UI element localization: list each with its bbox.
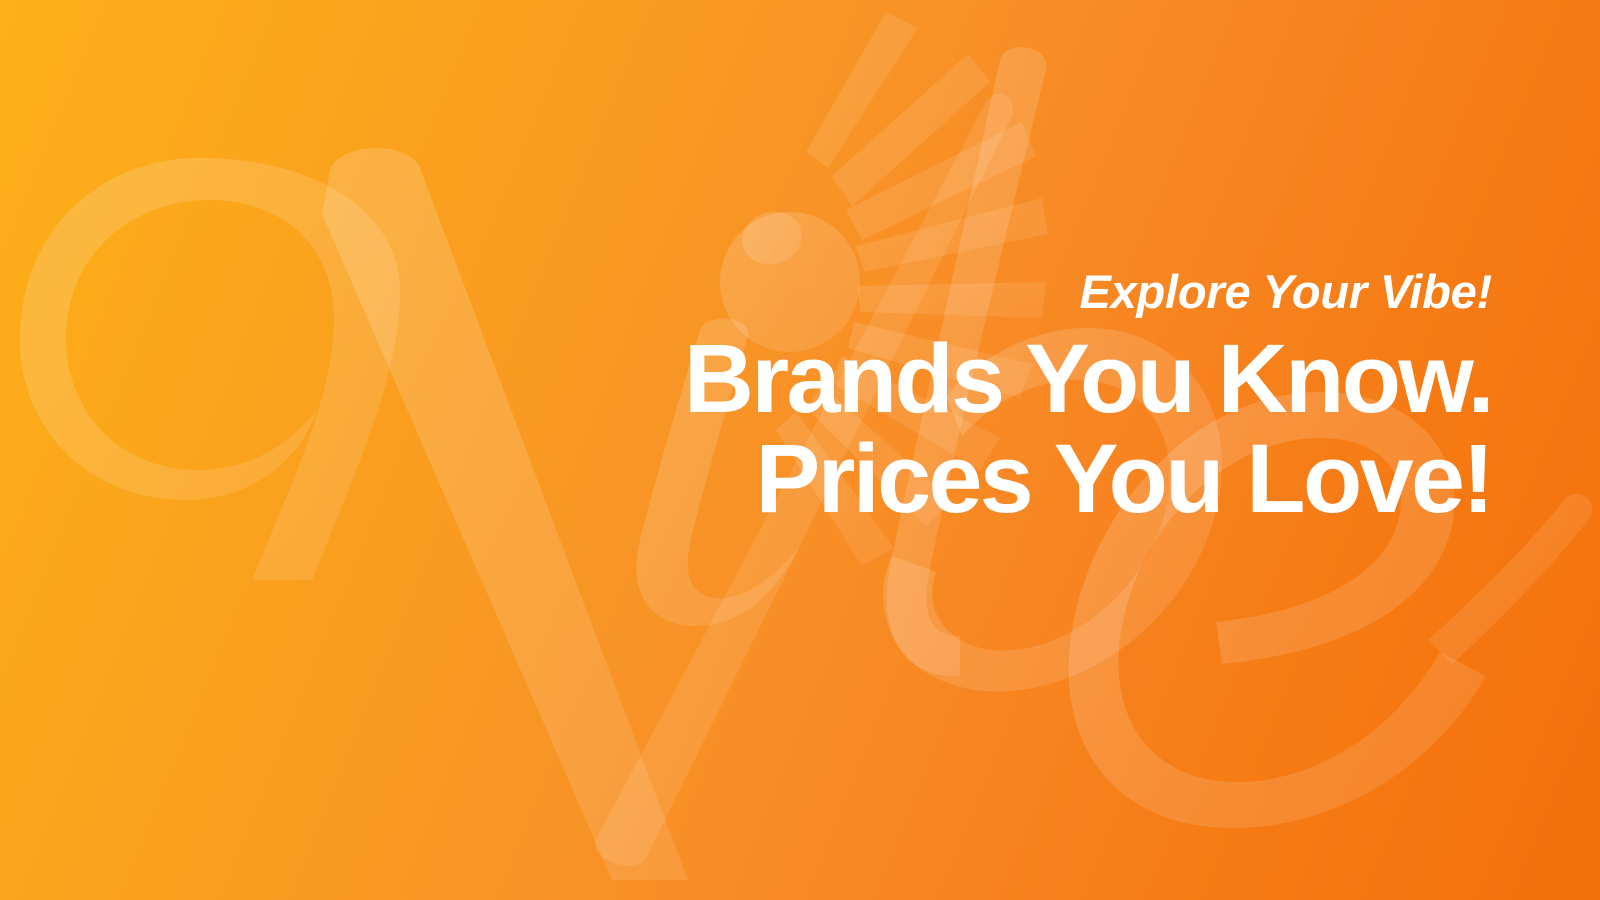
hero-copy-block: Explore Your Vibe! Brands You Know. Pric… <box>532 268 1492 529</box>
hero-headline: Brands You Know. Prices You Love! <box>532 315 1492 529</box>
hero-headline-line-2: Prices You Love! <box>532 429 1492 529</box>
hero-eyebrow: Explore Your Vibe! <box>532 268 1492 315</box>
promo-hero-banner: Explore Your Vibe! Brands You Know. Pric… <box>0 0 1600 900</box>
hero-headline-line-1: Brands You Know. <box>532 329 1492 429</box>
